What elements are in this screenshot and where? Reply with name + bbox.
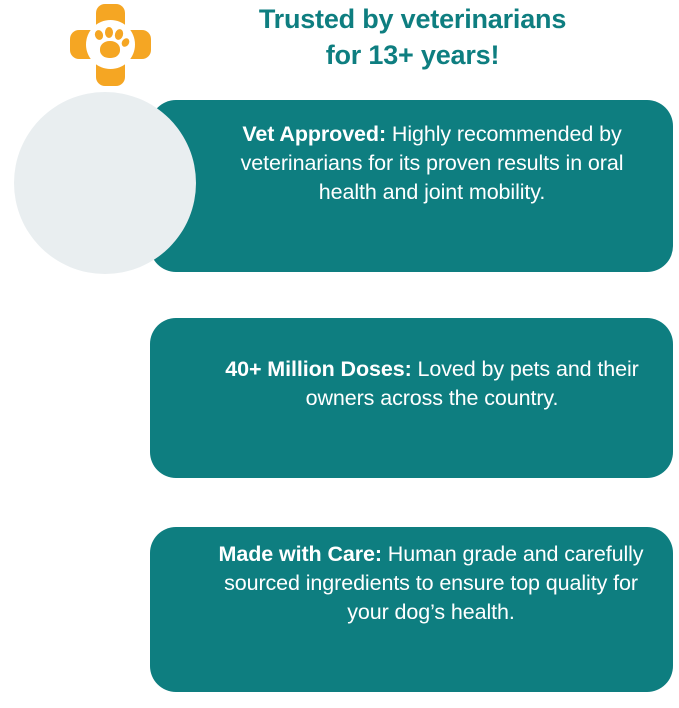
page-title: Trusted by veterinarians for 13+ years! [160,2,665,74]
paw-toe-1 [94,29,105,41]
photo-dog-paw-gloved-hand [14,92,196,274]
header: Trusted by veterinarians for 13+ years! [0,0,679,92]
page-title-line-1: Trusted by veterinarians [259,4,566,34]
paw-pad [100,41,120,58]
feature-heading-million-doses: 40+ Million Doses: [225,357,411,381]
paw-toe-2 [105,27,113,38]
feature-text-vet-approved: Vet Approved: Highly recommended by vete… [222,120,642,206]
feature-heading-vet-approved: Vet Approved: [242,122,386,146]
trust-badges-panel: Trusted by veterinarians for 13+ years! … [0,0,679,708]
feature-text-made-with-care: Made with Care: Human grade and carefull… [205,540,657,626]
paw-toe-4 [120,37,131,48]
feature-text-million-doses: 40+ Million Doses: Loved by pets and the… [222,355,642,413]
feature-heading-made-with-care: Made with Care: [219,542,382,566]
page-title-line-2: for 13+ years! [160,38,665,74]
paw-print-icon [86,20,135,69]
veterinary-cross-paw-icon [70,4,150,86]
